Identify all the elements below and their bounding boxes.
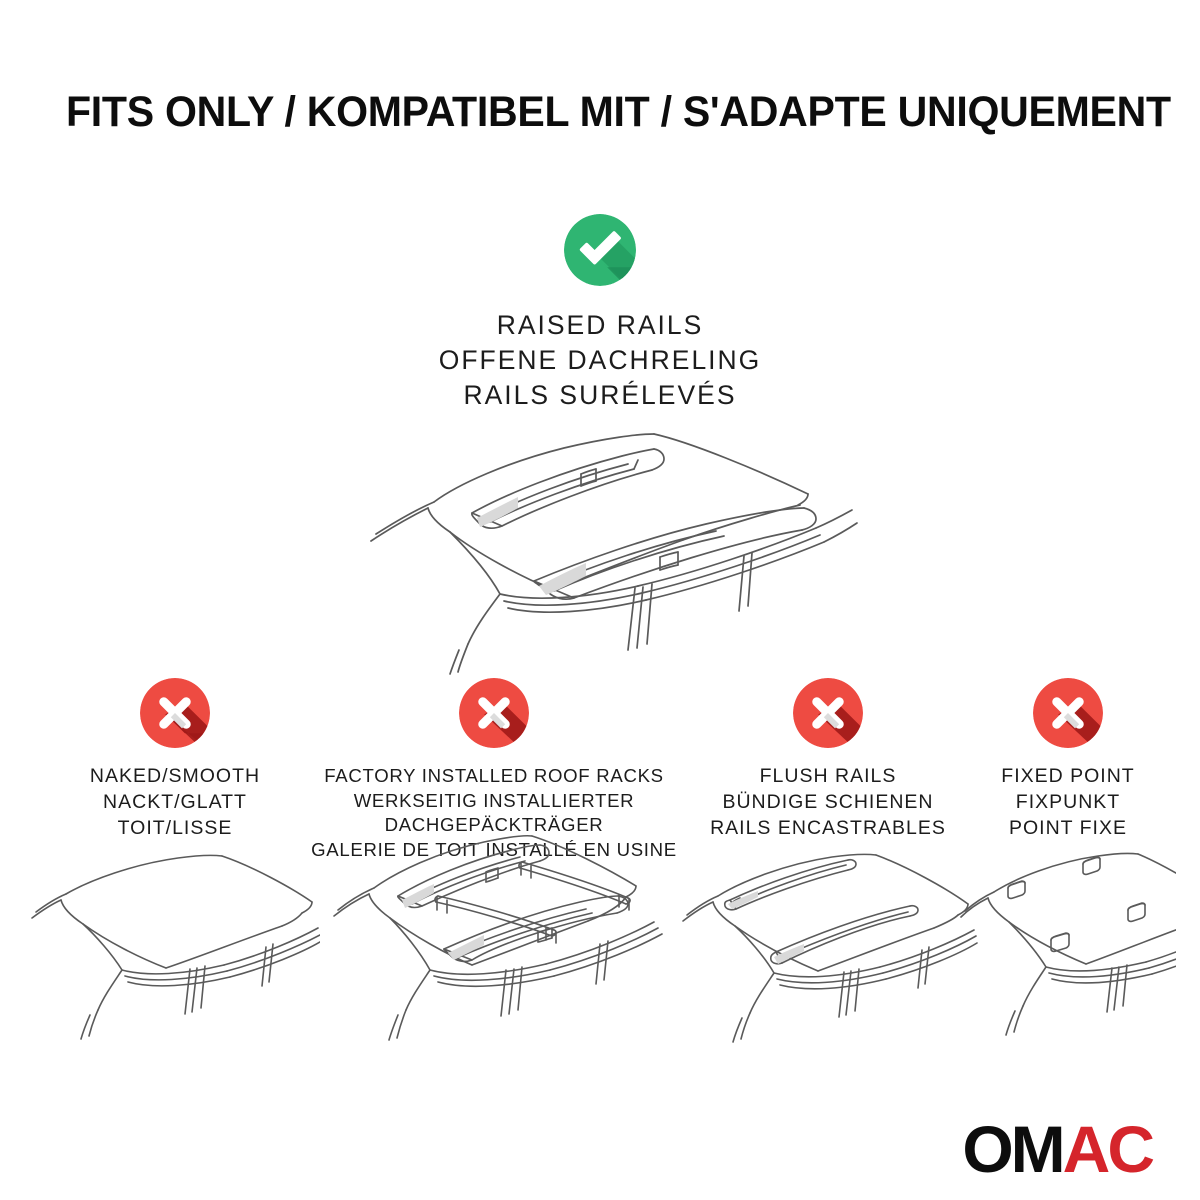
x-circle-icon — [793, 678, 863, 748]
caption-line-de: BÜNDIGE SCHIENEN — [710, 790, 946, 816]
x-circle-icon — [459, 678, 529, 748]
fixed-point-roof-illustration — [960, 836, 1176, 1051]
incompatible-item-flush-rails: FLUSH RAILS BÜNDIGE SCHIENEN RAILS ENCAS… — [678, 678, 978, 842]
check-badge-graphic — [564, 214, 636, 286]
caption-line-en: NAKED/SMOOTH — [90, 764, 260, 790]
x-circle-icon — [1033, 678, 1103, 748]
compatibility-infographic: FITS ONLY / KOMPATIBEL MIT / S'ADAPTE UN… — [0, 0, 1200, 1200]
x-badge-graphic — [1033, 678, 1103, 748]
incompatible-item-factory-roof-racks: FACTORY INSTALLED ROOF RACKS WERKSEITIG … — [310, 678, 678, 863]
logo-text-dark: OM — [962, 1116, 1062, 1182]
factory-roof-racks-illustration — [310, 818, 678, 1048]
x-badge-graphic — [140, 678, 210, 748]
logo-text-red: AC — [1063, 1116, 1152, 1182]
omac-logo: OMAC — [962, 1116, 1152, 1182]
incompatible-item-naked-smooth: NAKED/SMOOTH NACKT/GLATT TOIT/LISSE — [30, 678, 320, 842]
header: FITS ONLY / KOMPATIBEL MIT / S'ADAPTE UN… — [66, 86, 1141, 138]
incompatible-item-fixed-point: FIXED POINT FIXPUNKT POINT FIXE — [960, 678, 1176, 842]
incompatible-section: NAKED/SMOOTH NACKT/GLATT TOIT/LISSE — [0, 678, 1200, 1178]
incompatible-caption: FIXED POINT FIXPUNKT POINT FIXE — [1001, 764, 1134, 842]
check-circle-icon — [564, 214, 636, 286]
x-badge-graphic — [793, 678, 863, 748]
caption-line-en: FACTORY INSTALLED ROOF RACKS — [311, 764, 677, 789]
compatible-line-en: RAISED RAILS — [439, 308, 762, 343]
incompatible-caption: NAKED/SMOOTH NACKT/GLATT TOIT/LISSE — [90, 764, 260, 842]
caption-line-en: FIXED POINT — [1001, 764, 1134, 790]
naked-smooth-roof-illustration — [30, 836, 320, 1046]
caption-line-de: NACKT/GLATT — [90, 790, 260, 816]
raised-rails-roof-illustration — [338, 398, 866, 676]
compatible-section: RAISED RAILS OFFENE DACHRELING RAILS SUR… — [0, 214, 1200, 413]
caption-line-de-1: WERKSEITIG INSTALLIERTER — [311, 789, 677, 814]
x-badge-graphic — [459, 678, 529, 748]
caption-line-en: FLUSH RAILS — [710, 764, 946, 790]
caption-line-de: FIXPUNKT — [1001, 790, 1134, 816]
compatible-line-de: OFFENE DACHRELING — [439, 343, 762, 378]
incompatible-caption: FLUSH RAILS BÜNDIGE SCHIENEN RAILS ENCAS… — [710, 764, 946, 842]
x-circle-icon — [140, 678, 210, 748]
flush-rails-roof-illustration — [678, 836, 978, 1051]
page-title: FITS ONLY / KOMPATIBEL MIT / S'ADAPTE UN… — [66, 91, 1171, 134]
